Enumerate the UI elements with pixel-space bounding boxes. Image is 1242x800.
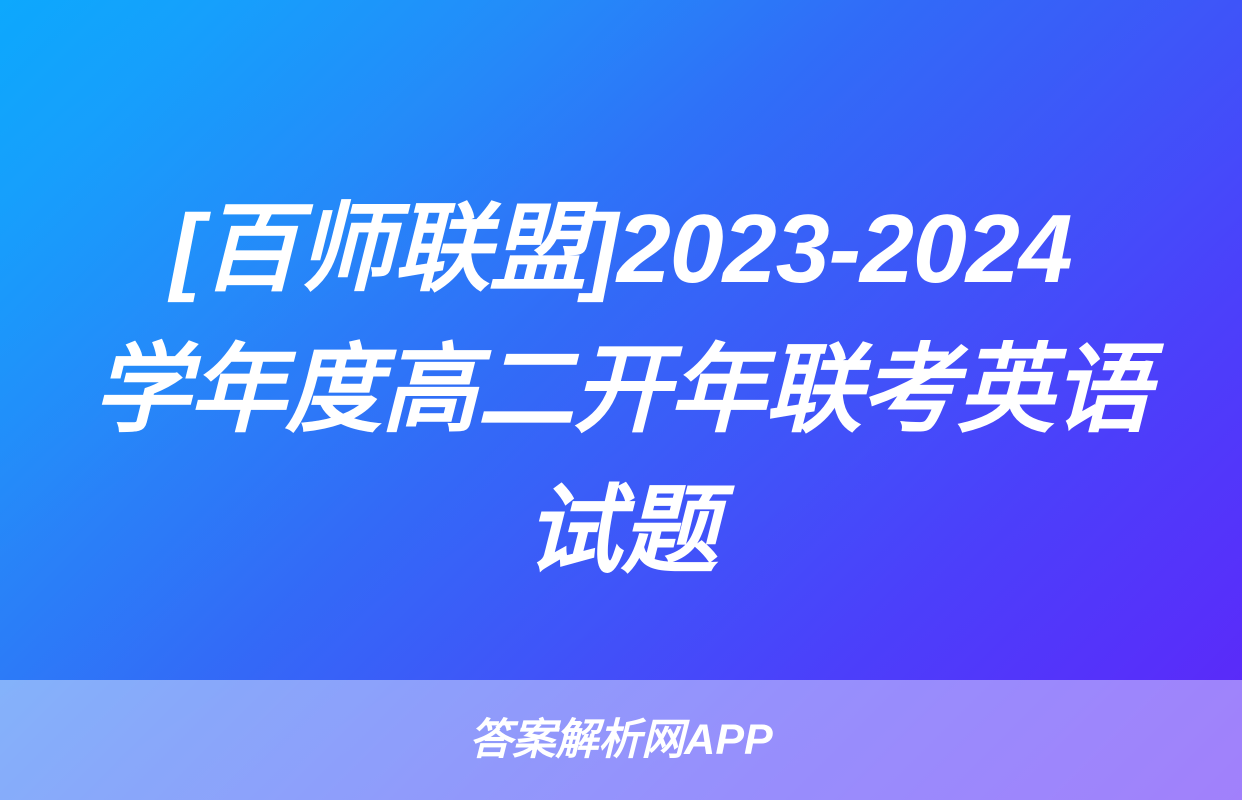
poster-canvas: [百师联盟]2023-2024 学年度高二开年联考英语 试题 答案解析网APP xyxy=(0,0,1242,800)
footer-watermark-band: 答案解析网APP xyxy=(0,680,1242,800)
app-watermark-label: 答案解析网APP xyxy=(469,719,772,762)
title-line-3: 试题 xyxy=(0,460,1242,601)
poster-title: [百师联盟]2023-2024 学年度高二开年联考英语 试题 xyxy=(0,178,1242,601)
title-line-2: 学年度高二开年联考英语 xyxy=(0,319,1242,460)
title-line-1: [百师联盟]2023-2024 xyxy=(0,178,1242,319)
